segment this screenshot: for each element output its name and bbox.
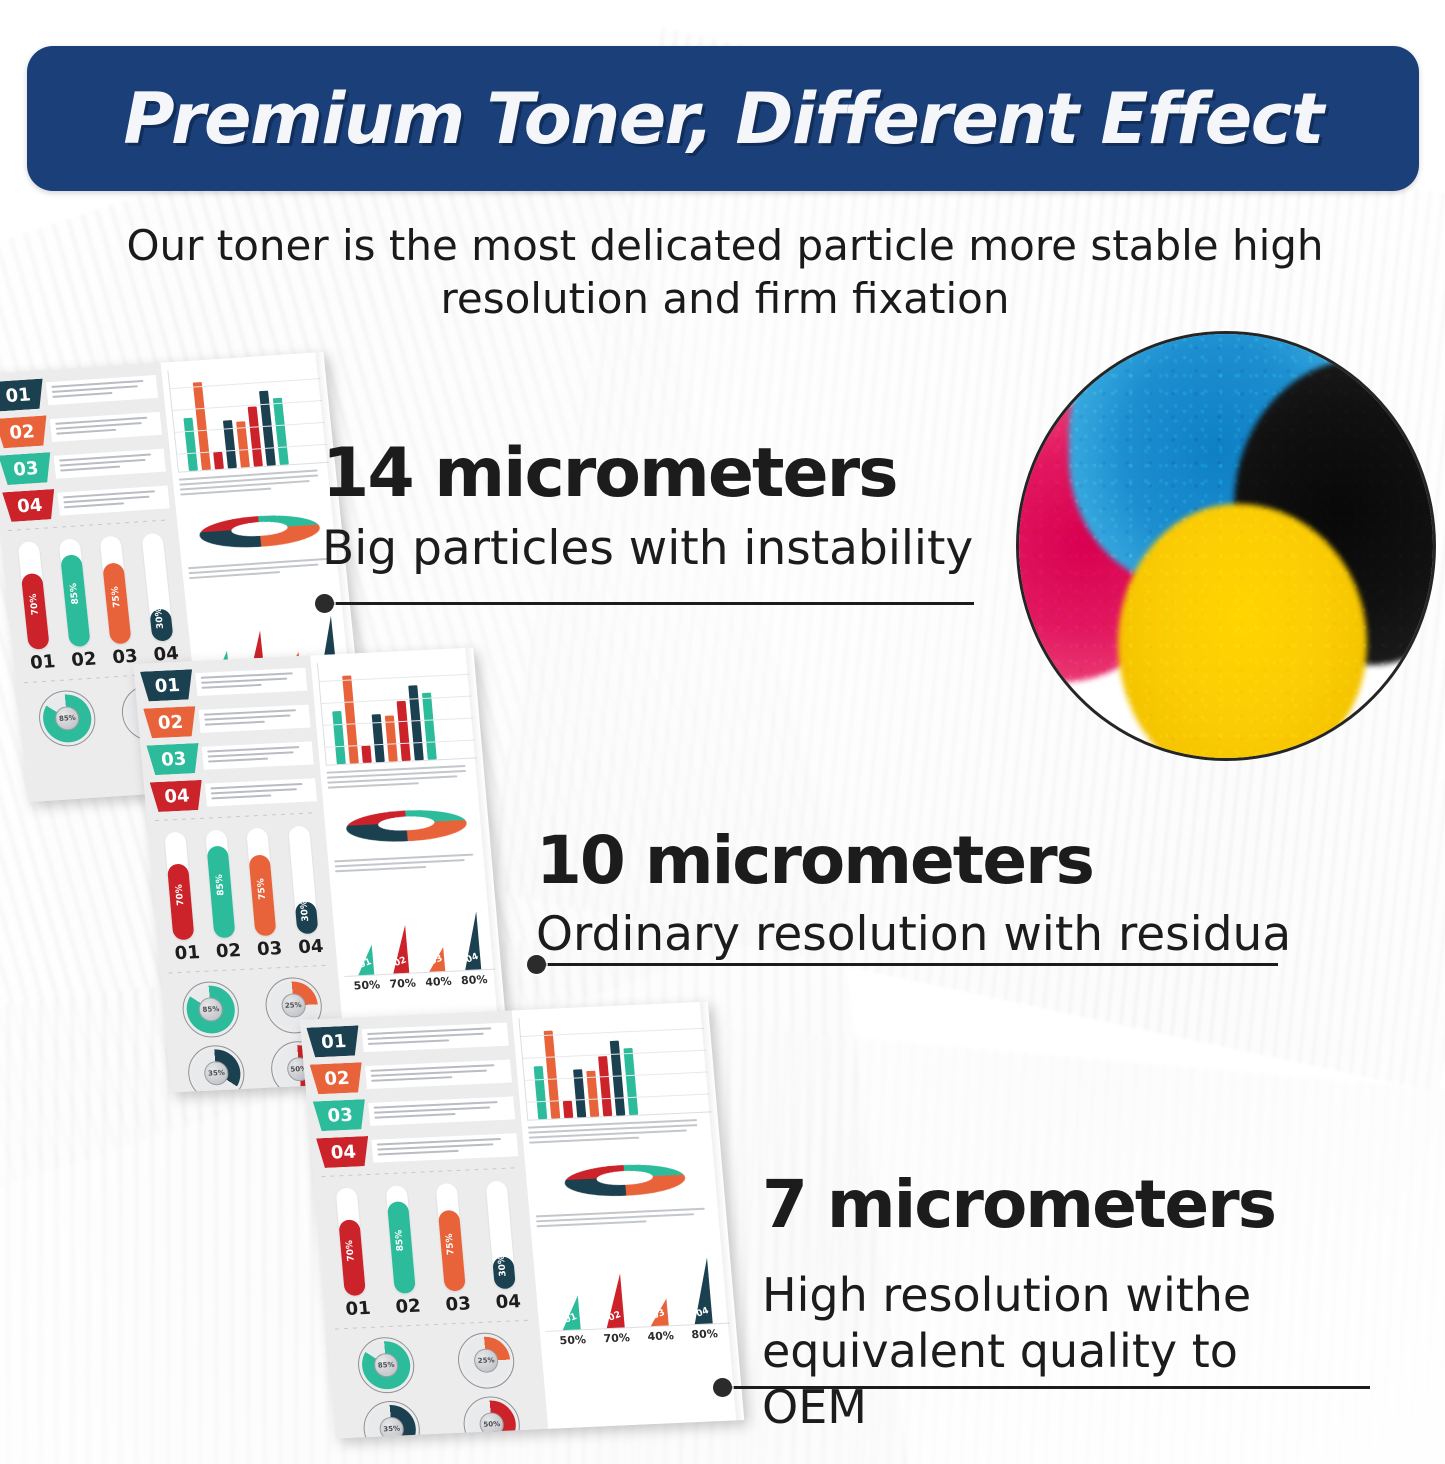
text-line [52, 391, 112, 397]
donut-ring-chart [329, 791, 485, 854]
capsule-fill: 30% [294, 901, 318, 934]
callout-desc-1: Big particles with instability [322, 521, 973, 576]
step-badge-03: 03 [146, 743, 201, 775]
capsule-category: 03 [111, 646, 134, 668]
triangle-value: 80% [687, 1327, 722, 1341]
capsule-bar: 70% [18, 541, 50, 650]
step-badge-03: 03 [313, 1099, 368, 1131]
capsule-category: 02 [395, 1296, 418, 1318]
gauge-item: 85% [171, 980, 252, 1039]
gauge-item: 85% [338, 1335, 435, 1395]
triangle-chart: 01 02 03 04 [336, 877, 495, 977]
capsule-value-label: 75% [445, 1233, 457, 1255]
callout-14-micrometers: 14 micrometers Big particles with instab… [322, 434, 973, 576]
step-text-block [46, 375, 158, 405]
chart-bar [422, 692, 437, 759]
step-row: 03 [313, 1092, 516, 1131]
capsule-fill: 85% [60, 554, 91, 647]
step-text-block [195, 667, 307, 695]
step-badge-01: 01 [306, 1025, 361, 1057]
step-row: 04 [316, 1129, 519, 1168]
chart-bar [563, 1100, 574, 1118]
capsule-value-label: 85% [69, 583, 81, 605]
step-badge-04: 04 [316, 1136, 371, 1168]
step-row: 01 [0, 371, 158, 412]
gauge-item: 35% [343, 1399, 440, 1439]
capsule-value-label: 70% [345, 1240, 357, 1262]
capsule-fill: 75% [103, 562, 132, 644]
capsule-bar: 85% [385, 1185, 415, 1294]
capsule-bar: 30% [141, 533, 173, 642]
section-divider [321, 1167, 517, 1177]
chart-bar [183, 418, 198, 471]
triangle-value: 40% [421, 975, 456, 990]
chart-bar [624, 1048, 639, 1115]
gauge-ring: 85% [36, 689, 98, 748]
capsule-bar: 75% [247, 828, 277, 937]
donut-ring [188, 513, 335, 552]
capsule-category-labels: 01 02 03 04 [164, 936, 331, 965]
paragraph-block [334, 853, 486, 872]
capsule-bar: 85% [59, 538, 91, 647]
sheet-3-left-column: 01 02 03 04 [300, 1010, 549, 1438]
capsule-value-label: 85% [394, 1230, 406, 1252]
paragraph-block [326, 764, 479, 788]
step-badge-03: 03 [0, 452, 53, 485]
capsule-bar: 70% [335, 1188, 365, 1297]
paragraph-block [179, 469, 332, 496]
step-row: 01 [140, 664, 307, 702]
capsule-value-label: 75% [256, 877, 268, 899]
capsule-category: 02 [215, 940, 238, 962]
gauge-item: 25% [438, 1331, 535, 1391]
capsule-category: 01 [174, 942, 197, 964]
step-text-block [368, 1096, 515, 1126]
chart-bar [247, 407, 262, 467]
step-row: 02 [310, 1056, 513, 1095]
capsule-category: 01 [29, 651, 52, 673]
step-text-block [54, 448, 166, 478]
capsule-fill: 70% [167, 864, 195, 940]
triangle-item: 01 [346, 944, 383, 976]
gauge-ring: 25% [456, 1331, 517, 1389]
triangle-item: 01 [552, 1295, 589, 1330]
chart-bar [544, 1030, 561, 1118]
capsule-fill: 75% [249, 855, 277, 937]
paragraph-block [188, 557, 340, 579]
capsule-bar: 75% [435, 1183, 465, 1292]
chart-bar [332, 711, 346, 764]
capsule-fill: 30% [492, 1256, 516, 1289]
chart-bar [213, 452, 224, 470]
capsule-fill: 75% [437, 1210, 465, 1292]
callout-rule-1 [324, 602, 974, 605]
step-text-block [365, 1059, 512, 1089]
callout-desc-3: High resolution withe equivalent quality… [762, 1267, 1332, 1435]
capsule-category: 04 [495, 1291, 518, 1313]
text-line [60, 465, 120, 471]
gauge-ring: 35% [361, 1400, 422, 1439]
donut-ring [335, 808, 482, 845]
header-banner: Premium Toner, Different Effect [27, 46, 1419, 191]
gauge-group: 85% 25% 35% [334, 1330, 545, 1438]
donut-ring-chart [181, 496, 338, 562]
step-row: 02 [0, 408, 162, 449]
rule-dot-icon [315, 594, 334, 613]
capsule-value-label: 85% [215, 874, 227, 896]
chart-bar [361, 745, 372, 763]
text-line [64, 502, 124, 508]
step-row: 01 [306, 1019, 509, 1058]
triangle-item: 04 [451, 911, 490, 970]
step-text-block [202, 741, 314, 769]
callout-size-3: 7 micrometers [762, 1166, 1332, 1243]
capsule-bar-chart: 70% 85% 75% [154, 821, 328, 941]
capsule-value-label: 30% [154, 607, 166, 629]
step-badge-02: 02 [0, 415, 50, 448]
capsule-fill: 85% [386, 1201, 415, 1293]
section-divider [155, 812, 316, 821]
donut-ring-chart [530, 1145, 719, 1209]
step-text-block [199, 704, 311, 732]
section-divider [168, 965, 329, 974]
triangle-item: 03 [418, 947, 454, 973]
triangle-item: 03 [640, 1298, 676, 1326]
chart-bar [273, 398, 289, 465]
step-text-block [57, 485, 169, 515]
chart-bar [598, 1057, 612, 1117]
step-text-block [371, 1133, 518, 1163]
section-divider [335, 1320, 531, 1330]
column-chart [167, 360, 329, 472]
capsule-category: 03 [256, 938, 279, 960]
cmyk-toner-powder-image [1016, 331, 1436, 761]
page-title: Premium Toner, Different Effect [123, 78, 1322, 160]
triangle-chart: 01 02 03 04 [538, 1231, 730, 1332]
step-badge-01: 01 [140, 669, 195, 701]
chart-bar [396, 701, 410, 761]
triangle-value: 70% [385, 976, 420, 991]
triangle-item: 02 [381, 924, 419, 973]
capsule-category: 04 [297, 936, 320, 958]
gauge-item: 35% [176, 1044, 257, 1093]
capsule-value-label: 30% [300, 900, 312, 922]
capsule-bar: 85% [205, 830, 235, 939]
column-chart [519, 1010, 712, 1121]
triangle-value: 40% [643, 1329, 678, 1343]
gauge-ring: 85% [180, 980, 241, 1039]
text-line [56, 428, 116, 434]
step-text-block [205, 778, 317, 806]
step-text-block [362, 1022, 509, 1052]
step-row: 04 [2, 481, 170, 522]
powder-grain-texture [1019, 334, 1433, 758]
capsule-category: 01 [345, 1298, 368, 1320]
capsule-fill: 70% [338, 1220, 366, 1296]
capsule-fill: 70% [21, 573, 50, 650]
rule-dot-icon [713, 1378, 732, 1397]
gauge-ring: 85% [356, 1336, 417, 1394]
step-badge-02: 02 [143, 706, 198, 738]
capsule-bar-chart: 70% 85% 75% [320, 1176, 530, 1297]
chart-bar [534, 1066, 548, 1119]
paragraph-block [536, 1207, 721, 1227]
triangle-value: 50% [555, 1333, 590, 1347]
callout-rule-2 [536, 963, 1278, 966]
gauge-item: 85% [27, 688, 109, 749]
triangle-item: 02 [594, 1273, 633, 1328]
capsule-bar: 70% [164, 832, 194, 941]
gauge-ring: 35% [186, 1044, 247, 1093]
callout-7-micrometers: 7 micrometers High resolution withe equi… [762, 1166, 1332, 1435]
column-chart [317, 656, 477, 766]
page-subtitle: Our toner is the most delicated particle… [100, 220, 1350, 326]
capsule-value-label: 30% [497, 1255, 509, 1277]
capsule-value-label: 70% [29, 594, 41, 616]
donut-ring [553, 1163, 700, 1199]
infographic-page: Premium Toner, Different Effect Our tone… [0, 0, 1445, 1464]
triangle-value: 70% [599, 1331, 634, 1345]
capsule-bar: 30% [288, 826, 318, 935]
step-text-block [50, 411, 162, 441]
step-badge-01: 01 [0, 379, 46, 412]
callout-size-1: 14 micrometers [322, 434, 973, 513]
capsule-bar: 30% [485, 1181, 515, 1290]
capsule-fill: 30% [149, 608, 173, 642]
triangle-item: 04 [681, 1257, 721, 1324]
paragraph-block [528, 1118, 713, 1143]
capsule-category: 03 [445, 1294, 468, 1316]
step-badge-04: 04 [2, 489, 57, 522]
callout-10-micrometers: 10 micrometers Ordinary resolution with … [536, 822, 1291, 962]
callout-size-2: 10 micrometers [536, 822, 1291, 899]
step-row: 03 [0, 445, 166, 486]
capsule-value-label: 70% [174, 884, 186, 906]
step-row: 02 [143, 701, 310, 739]
step-row: 03 [146, 737, 313, 775]
capsule-bar-chart: 70% 85% 75% [7, 528, 183, 650]
triangle-value: 50% [349, 978, 384, 993]
step-badge-02: 02 [310, 1062, 365, 1094]
capsule-value-label: 75% [111, 585, 123, 607]
step-row: 04 [150, 774, 317, 812]
infographic-sheet-3: 01 02 03 04 [300, 1002, 745, 1439]
callout-desc-2: Ordinary resolution with residua [536, 907, 1291, 962]
triangle-value: 80% [457, 973, 492, 988]
capsule-category: 02 [70, 649, 93, 671]
capsule-bar: 75% [100, 536, 132, 645]
capsule-fill: 85% [207, 846, 236, 938]
step-badge-04: 04 [150, 780, 205, 812]
